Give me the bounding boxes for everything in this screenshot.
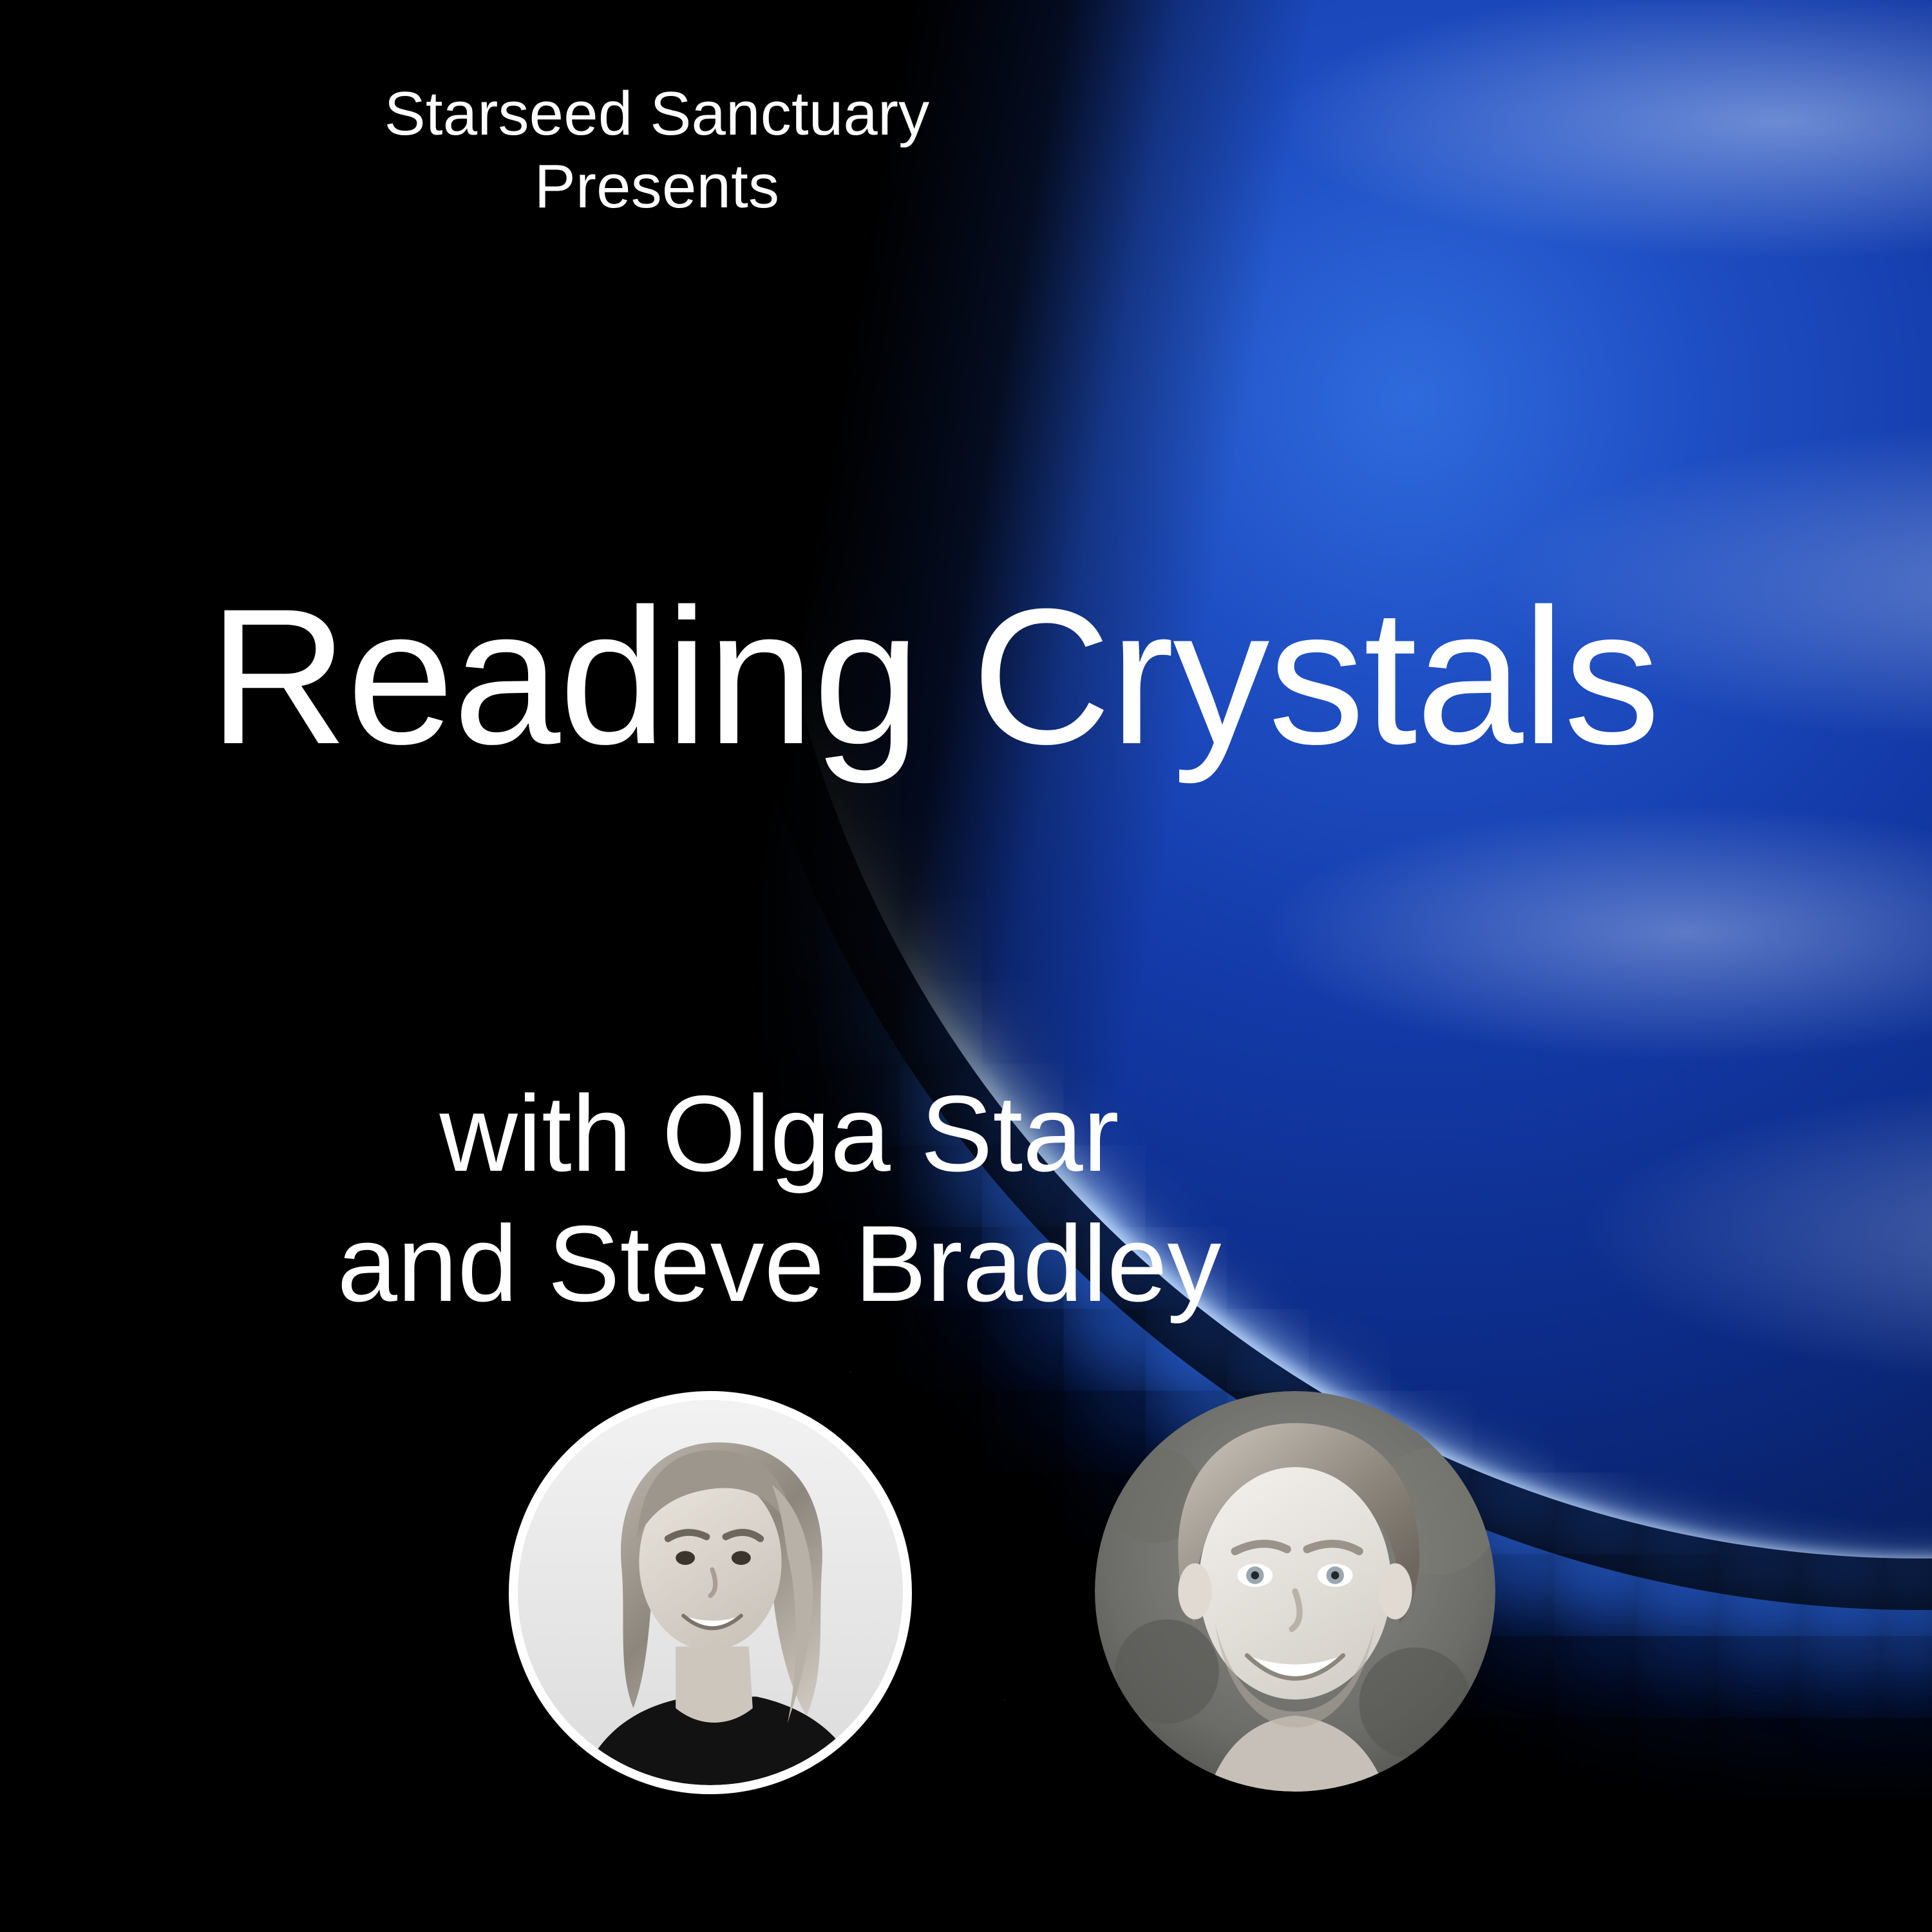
headshot-steve-bradley-photo	[1095, 1391, 1495, 1792]
show-title: Reading Crystals	[0, 580, 1868, 773]
host-line-1: with Olga Star	[0, 1069, 1558, 1199]
avatar-olga-star	[509, 1391, 912, 1794]
host-line-2: and Steve Bradley	[0, 1199, 1558, 1329]
headshot-olga-star-photo	[518, 1400, 903, 1785]
presenter-line: Starseed Sanctuary Presents	[0, 77, 1314, 223]
presenter-name: Starseed Sanctuary	[0, 77, 1314, 150]
hosts-line: with Olga Star and Steve Bradley	[0, 1069, 1558, 1329]
presenter-verb: Presents	[0, 150, 1314, 223]
avatar-steve-bradley	[1095, 1391, 1495, 1792]
cover-content: Starseed Sanctuary Presents Reading Crys…	[0, 0, 1932, 1932]
podcast-cover-art: Starseed Sanctuary Presents Reading Crys…	[0, 0, 1932, 1932]
